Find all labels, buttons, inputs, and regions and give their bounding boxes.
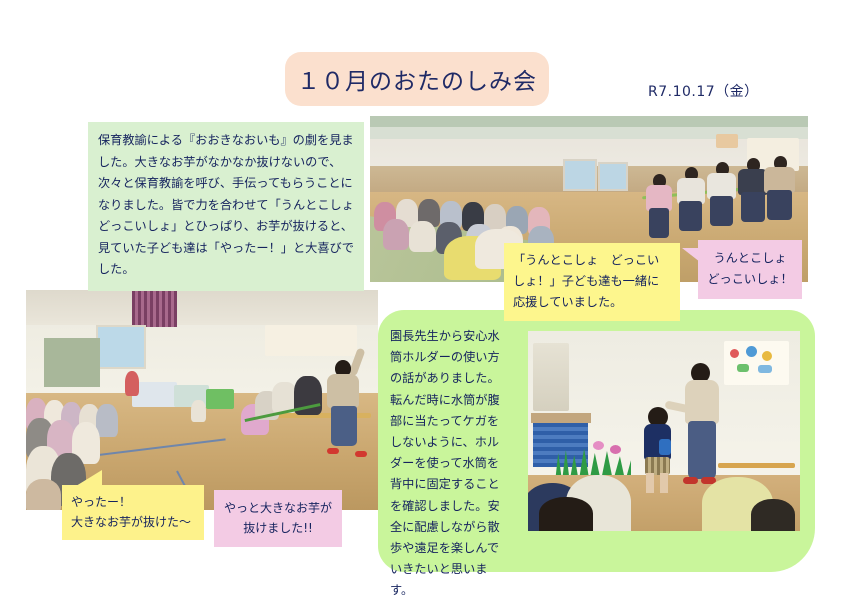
callout-yatta-text: やったー！ 大きなお芋が抜けた〜 xyxy=(71,495,191,529)
callout-tail xyxy=(682,248,700,262)
newsletter-page: １０月のおたのしみ会 R7.10.17（金） xyxy=(0,0,842,595)
callout-nuketa-text: やっと大きなお芋が 抜けました!! xyxy=(224,501,332,535)
bottle-photo-scene xyxy=(528,331,800,531)
bottle-holder-photo xyxy=(528,331,800,531)
callout-untokosho-text: うんとこしょ どっこいしょ！ xyxy=(707,251,792,286)
page-title: １０月のおたのしみ会 xyxy=(297,62,537,96)
callout-cheering: 「うんとこしょ どっこいしょ！」子ども達も一緒に応援していました。 xyxy=(504,243,680,321)
page-title-pill: １０月のおたのしみ会 xyxy=(285,52,549,106)
play-report-text: 保育教諭による『おおきなおいも』の劇を見ました。大きなお芋がなかなか抜けないので… xyxy=(88,122,364,291)
callout-yatta: やったー！ 大きなお芋が抜けた〜 xyxy=(62,485,204,540)
document-date: R7.10.17（金） xyxy=(648,81,759,101)
callout-untokosho: うんとこしょ どっこいしょ！ xyxy=(698,240,802,299)
callout-nuketa: やっと大きなお芋が 抜けました!! xyxy=(214,490,342,547)
callout-tail xyxy=(76,470,102,486)
bottle-holder-text: 園長先生から安心水筒ホルダーの使い方の話がありました。転んだ時に水筒が腹部に当た… xyxy=(390,326,508,602)
